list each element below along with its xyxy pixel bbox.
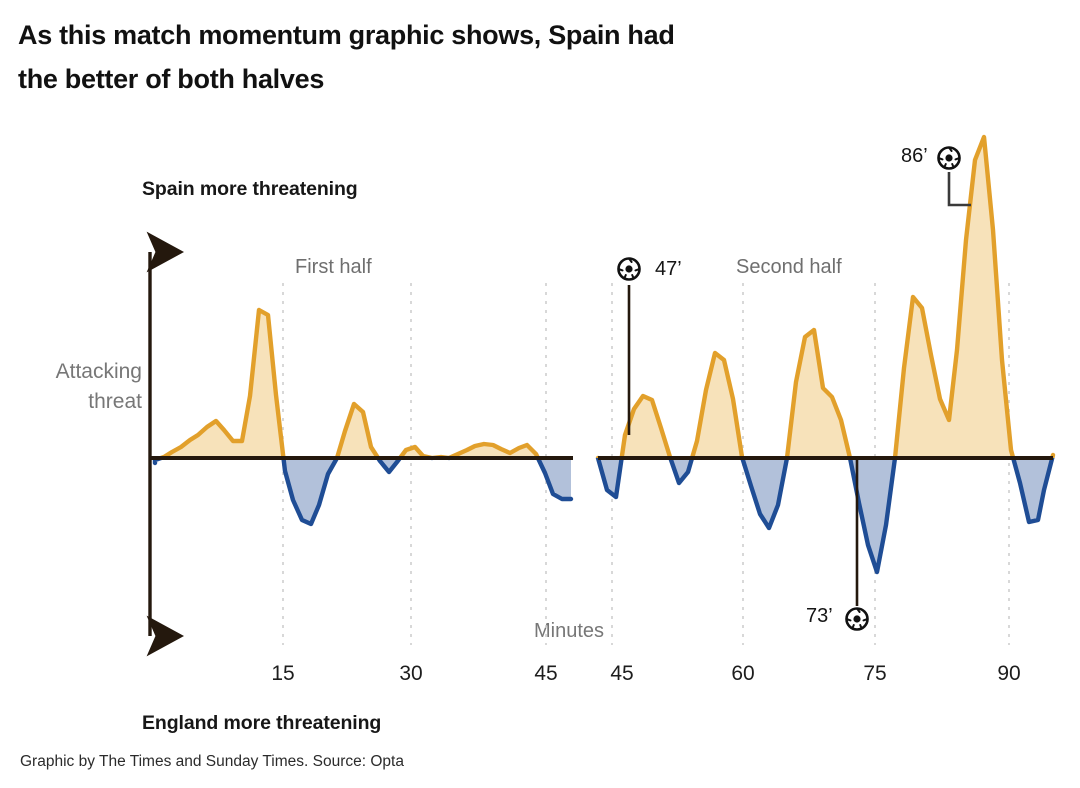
- source-caption: Graphic by The Times and Sunday Times. S…: [20, 753, 404, 771]
- series-first-half: [155, 310, 571, 524]
- football-icon-86: [939, 148, 960, 169]
- football-icon-73: [847, 609, 868, 630]
- goal-leader-line-86: [949, 172, 971, 205]
- tick-label-45-first: 45: [534, 662, 557, 686]
- spain-line-first-half: [155, 310, 571, 524]
- goal-marker-86: [939, 148, 972, 206]
- tick-label-75: 75: [863, 662, 886, 686]
- tick-label-90: 90: [997, 662, 1020, 686]
- tick-label-15: 15: [271, 662, 294, 686]
- series-second-half: [598, 137, 1053, 572]
- tick-label-45-second: 45: [610, 662, 633, 686]
- legend-england-more-threatening: England more threatening: [142, 712, 381, 735]
- goal-label-47: 47’: [655, 258, 682, 281]
- momentum-graphic: As this match momentum graphic shows, Sp…: [0, 0, 1080, 788]
- tick-label-60: 60: [731, 662, 754, 686]
- goal-label-86: 86’: [901, 145, 928, 168]
- spain-area-second-half: [598, 137, 1053, 572]
- goal-label-73: 73’: [806, 605, 833, 628]
- tick-label-30: 30: [399, 662, 422, 686]
- football-icon-47: [619, 259, 640, 280]
